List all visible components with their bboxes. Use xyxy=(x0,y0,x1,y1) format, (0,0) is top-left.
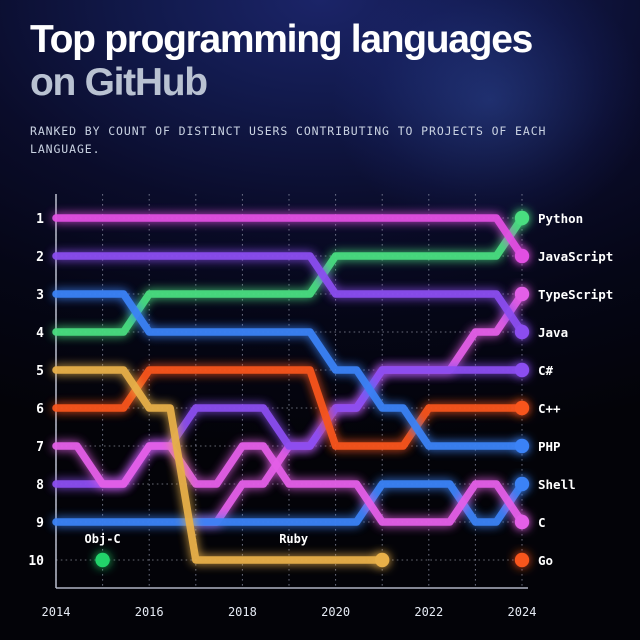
x-axis-tick-label: 2016 xyxy=(135,605,164,619)
y-axis-tick-label: 8 xyxy=(36,478,44,493)
y-axis-tick-label: 10 xyxy=(28,554,44,569)
series-endpoint-dot xyxy=(515,211,529,225)
x-axis-tick-label: 2018 xyxy=(228,605,257,619)
inline-series-label: Obj-C xyxy=(85,532,121,546)
series-endpoint-dot xyxy=(515,287,529,301)
series-endpoint-dot xyxy=(515,249,529,263)
x-axis-tick-label: 2024 xyxy=(508,605,537,619)
y-axis-tick-label: 4 xyxy=(36,326,44,341)
legend-label-typescript[interactable]: TypeScript xyxy=(538,287,613,302)
legend-label-c[interactable]: C xyxy=(538,515,546,530)
inline-series-label: Ruby xyxy=(279,532,308,546)
series-go xyxy=(382,553,529,567)
y-axis-tick-label: 9 xyxy=(36,516,44,531)
x-axis-tick-label: 2014 xyxy=(42,605,71,619)
series-endpoint-dot xyxy=(515,439,529,453)
x-axis-tick-label: 2020 xyxy=(321,605,350,619)
series-python xyxy=(56,211,529,332)
chart-header: Top programming languages on GitHub RANK… xyxy=(30,18,620,158)
y-axis-labels: 12345678910 xyxy=(28,212,44,569)
y-axis-tick-label: 3 xyxy=(36,288,44,303)
title-line-2: on GitHub xyxy=(30,61,620,104)
series-endpoint-dot xyxy=(515,553,529,567)
series-lines xyxy=(56,211,529,567)
series-c xyxy=(56,446,529,529)
series-endpoint-dot xyxy=(95,553,109,567)
y-axis-tick-label: 1 xyxy=(36,212,44,227)
series-endpoint-dot xyxy=(515,477,529,491)
legend-label-javascript[interactable]: JavaScript xyxy=(538,249,613,264)
series-endpoint-dot xyxy=(375,553,389,567)
chart-page: Top programming languages on GitHub RANK… xyxy=(0,0,640,640)
series-obj-c xyxy=(56,553,110,567)
legend-label-python[interactable]: Python xyxy=(538,211,583,226)
title-line-1: Top programming languages xyxy=(30,18,532,61)
legend-label-c-[interactable]: C++ xyxy=(538,401,561,416)
legend-label-php[interactable]: PHP xyxy=(538,439,561,454)
chart-legend: PythonJavaScriptTypeScriptJavaC#C++PHPSh… xyxy=(538,211,613,568)
chart-area: 12345678910 201420162018202020222024 Obj… xyxy=(0,186,640,640)
y-axis-tick-label: 6 xyxy=(36,402,44,417)
y-axis-tick-label: 5 xyxy=(36,364,44,379)
legend-label-c-[interactable]: C# xyxy=(538,363,554,378)
bump-chart: 12345678910 201420162018202020222024 Obj… xyxy=(0,186,640,640)
legend-label-shell[interactable]: Shell xyxy=(538,477,576,492)
series-endpoint-dot xyxy=(515,363,529,377)
x-axis-tick-label: 2022 xyxy=(414,605,443,619)
y-axis-tick-label: 2 xyxy=(36,250,44,265)
x-axis-labels: 201420162018202020222024 xyxy=(42,605,537,619)
legend-label-go[interactable]: Go xyxy=(538,553,553,568)
series-endpoint-dot xyxy=(515,325,529,339)
chart-subtitle: RANKED BY COUNT OF DISTINCT USERS CONTRI… xyxy=(30,122,610,158)
series-line xyxy=(56,370,522,484)
legend-label-java[interactable]: Java xyxy=(538,325,568,340)
series-endpoint-dot xyxy=(515,401,529,415)
y-axis-tick-label: 7 xyxy=(36,440,44,455)
series-endpoint-dot xyxy=(515,515,529,529)
page-title: Top programming languages on GitHub xyxy=(30,18,620,104)
